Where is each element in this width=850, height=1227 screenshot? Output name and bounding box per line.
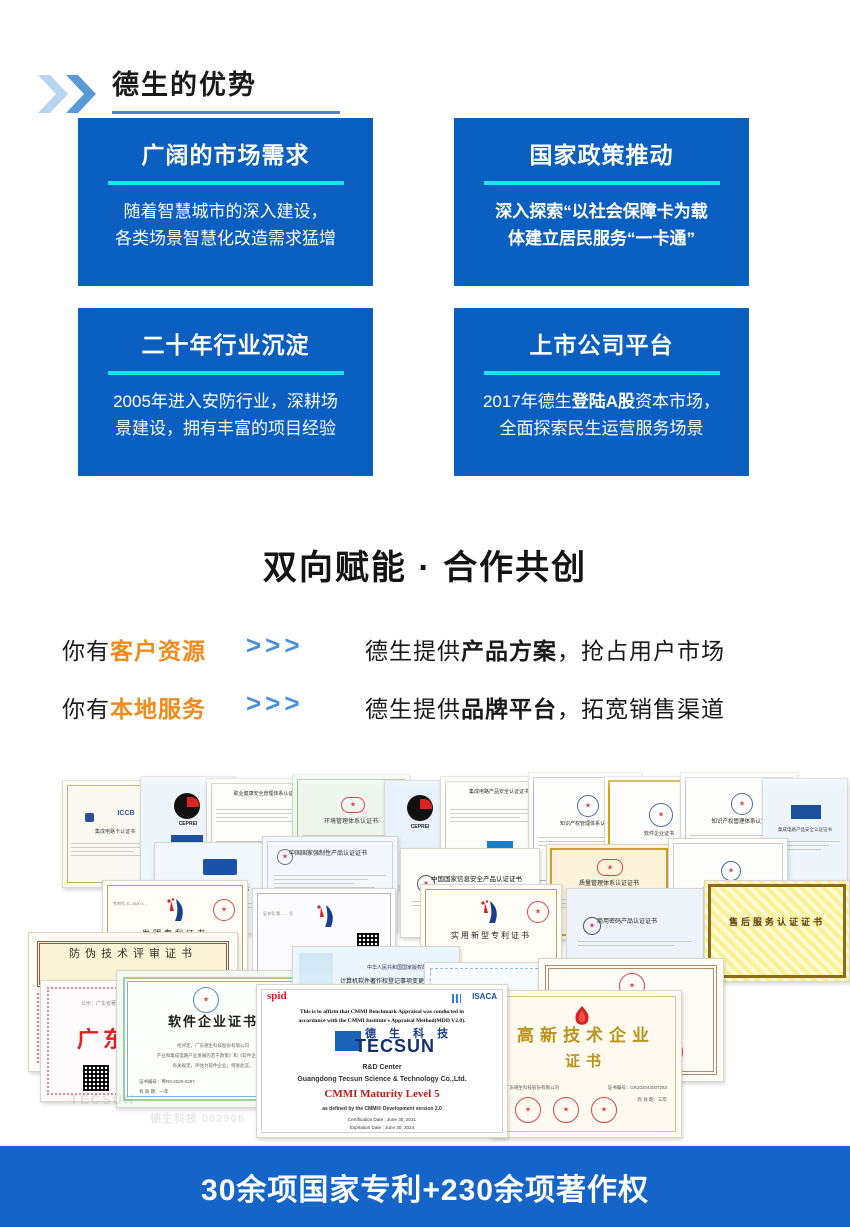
csel-csia-logo-icon <box>193 987 219 1013</box>
brand-en: TECSUN <box>257 1043 507 1049</box>
title-underline <box>112 111 340 114</box>
advantage-card[interactable]: 国家政策推动 深入探索“以社会保障卡为载 体建立居民服务“一卡通” <box>454 118 749 286</box>
synergy-right-text: 德生提供品牌平台，拓宽销售渠道 <box>365 690 725 724</box>
advantage-card[interactable]: 二十年行业沉淀 2005年进入安防行业，深耕场 景建设，拥有丰富的项目经验 <box>78 308 373 476</box>
cmmi-statement-line: accordance with the CMMI Institute's App… <box>257 1018 507 1024</box>
cmmi-certificate[interactable]: spid ISACA This is to affirm that CMMI B… <box>256 984 508 1138</box>
card-divider <box>484 181 720 185</box>
synergy-left-text: 你有本地服务 <box>62 690 206 724</box>
cmmi-statement-line: This is to affirm that CMMI Benchmark Ap… <box>257 1009 507 1015</box>
synergy-row: 你有客户资源 >>> 德生提供产品方案，抢占用户市场 <box>0 628 850 686</box>
bottom-banner: 30余项国家专利+230余项著作权 <box>0 1146 850 1227</box>
card-body-text: 2017年德生 <box>483 392 572 411</box>
card-body-line: 2017年德生登陆A股资本市场， <box>474 388 729 415</box>
spid-logo: spid <box>267 993 287 999</box>
synergy-left-prefix: 你有 <box>62 696 110 722</box>
card-body-line: 各类场景智慧化改造需求猛增 <box>98 225 353 252</box>
cert-title: 防伪技术评审证书 <box>29 951 237 957</box>
card-body: 随着智慧城市的深入建设， 各类场景智慧化改造需求猛增 <box>98 198 353 252</box>
synergy-right-suffix: ，拓宽销售渠道 <box>557 696 725 722</box>
card-body-line: 全面探索民生运营服务场景 <box>474 415 729 442</box>
cvc-logo-icon <box>341 797 365 813</box>
official-seal-icon <box>591 1097 617 1123</box>
advantage-card[interactable]: 上市公司平台 2017年德生登陆A股资本市场， 全面探索民生运营服务场景 <box>454 308 749 476</box>
card-body: 深入探索“以社会保障卡为载 体建立居民服务“一卡通” <box>474 198 729 252</box>
cmmi-level: CMMI Maturity Level 5 <box>257 1091 507 1097</box>
advantage-card[interactable]: 广阔的市场需求 随着智慧城市的深入建设， 各类场景智慧化改造需求猛增 <box>78 118 373 286</box>
card-body: 2005年进入安防行业，深耕场 景建设，拥有丰富的项目经验 <box>98 388 353 442</box>
card-body-line: 体建立居民服务“一卡通” <box>474 225 729 252</box>
isaca-logo: ISACA <box>472 994 497 1000</box>
card-title: 上市公司平台 <box>474 330 729 360</box>
synergy-left-text: 你有客户资源 <box>62 632 206 666</box>
official-seal-icon <box>553 1097 579 1123</box>
certificate-thumbnail[interactable]: 售后服务认证证书 <box>704 880 850 982</box>
advantage-card-grid: 广阔的市场需求 随着智慧城市的深入建设， 各类场景智慧化改造需求猛增 国家政策推… <box>0 118 850 473</box>
card-title: 广阔的市场需求 <box>98 140 353 170</box>
isaca-mark-icon <box>452 994 461 1003</box>
synergy-left-prefix: 你有 <box>62 638 110 664</box>
synergy-left-highlight: 客户资源 <box>110 638 206 664</box>
cert-no: 证书编号：GR202044007283 <box>491 1085 681 1091</box>
card-divider <box>108 181 344 185</box>
cmmi-level-note: as defined by the CMMI® Development vers… <box>257 1106 507 1112</box>
synergy-right-bold: 品牌平台 <box>461 696 557 722</box>
card-divider <box>484 371 720 375</box>
cert-logo-icon <box>649 803 673 827</box>
cert-title: 高新技术企业 <box>491 1033 681 1039</box>
chevron-triple-icon: >>> <box>246 630 304 661</box>
cert-title: 集成电路产品安全认证证书 <box>763 827 847 833</box>
cert-title: 质量管理体系认证证书 <box>547 881 671 887</box>
cmmi-company: Guangdong Tecsun Science & Technology Co… <box>257 1077 507 1083</box>
middle-headline: 双向赋能 · 合作共创 <box>0 540 850 589</box>
card-body-emphasis: 登陆A股 <box>572 392 635 411</box>
card-body-line: 随着智慧城市的深入建设， <box>98 198 353 225</box>
card-body-line: 2005年进入安防行业，深耕场 <box>98 388 353 415</box>
section-header: 德生的优势 <box>0 30 850 100</box>
cert-title: 中国国家强制性产品认证证书 <box>263 851 397 857</box>
cvc-logo-icon <box>597 859 623 876</box>
synergy-left-highlight: 本地服务 <box>110 696 206 722</box>
chevron-triple-icon: >>> <box>246 688 304 719</box>
watermark: TECSUN <box>70 1092 135 1107</box>
card-body-line: 深入探索“以社会保障卡为载 <box>474 198 729 225</box>
cert-logo-icon <box>577 795 599 817</box>
chevron-group <box>36 74 102 114</box>
synergy-right-prefix: 德生提供 <box>365 638 461 664</box>
card-divider <box>108 371 344 375</box>
page-title: 德生的优势 <box>112 68 257 102</box>
official-seal-icon <box>515 1097 541 1123</box>
cmmi-unit: R&D Center <box>257 1065 507 1071</box>
chevron-right-icon <box>64 74 98 114</box>
official-seal-icon <box>527 901 549 923</box>
synergy-row-list: 你有客户资源 >>> 德生提供产品方案，抢占用户市场 你有本地服务 >>> 德生… <box>0 628 850 744</box>
cert-badge-icon <box>791 805 821 819</box>
cert-meta: 证书号 第 ...... 号 <box>253 911 395 917</box>
patent-sail-icon <box>479 899 501 925</box>
cert-logo-icon <box>721 861 741 881</box>
card-title: 国家政策推动 <box>474 140 729 170</box>
cert-title: 中国国家信息安全产品认证证书 <box>401 877 539 883</box>
card-body-line: 景建设，拥有丰富的项目经验 <box>98 415 353 442</box>
cert-title: 商用密码产品认证证书 <box>567 919 703 925</box>
cert-badge-icon <box>203 859 237 875</box>
synergy-right-prefix: 德生提供 <box>365 696 461 722</box>
card-body: 2017年德生登陆A股资本市场， 全面探索民生运营服务场景 <box>474 388 729 442</box>
watermark: 德生科技 002908 <box>150 1110 245 1126</box>
cert-meta: 专利号 ZL 2020 1 ... <box>103 901 247 907</box>
synergy-row: 你有本地服务 >>> 德生提供品牌平台，拓宽销售渠道 <box>0 686 850 744</box>
synergy-right-text: 德生提供产品方案，抢占用户市场 <box>365 632 725 666</box>
cert-title: 实用新型专利证书 <box>421 933 561 939</box>
page-root: 德生的优势 广阔的市场需求 随着智慧城市的深入建设， 各类场景智慧化改造需求猛增… <box>0 0 850 1227</box>
qr-code-icon <box>83 1065 109 1091</box>
card-title: 二十年行业沉淀 <box>98 330 353 360</box>
card-body-text: 资本市场， <box>635 392 720 411</box>
synergy-right-bold: 产品方案 <box>461 638 557 664</box>
bottom-banner-text: 30余项国家专利+230余项著作权 <box>0 1146 850 1227</box>
cert-title: 售后服务认证证书 <box>705 919 849 925</box>
certificate-collage: ICCB 集成电路卡认证书 CEPREI 质量管理体系认证书 职业健康安全管理体… <box>0 762 850 1150</box>
cert-subtitle: 证书 <box>491 1059 681 1065</box>
cert-logo-icon <box>731 793 753 815</box>
cmmi-expiration-date: Expiration Date : June 30, 2024 <box>257 1125 507 1131</box>
certificate-thumbnail[interactable]: 高新技术企业 证书 广东德生科技股份有限公司 证书编号：GR2020440072… <box>490 990 682 1138</box>
synergy-right-suffix: ，抢占用户市场 <box>557 638 725 664</box>
cmmi-certification-date: Certification Date : June 30, 2021 <box>257 1117 507 1123</box>
